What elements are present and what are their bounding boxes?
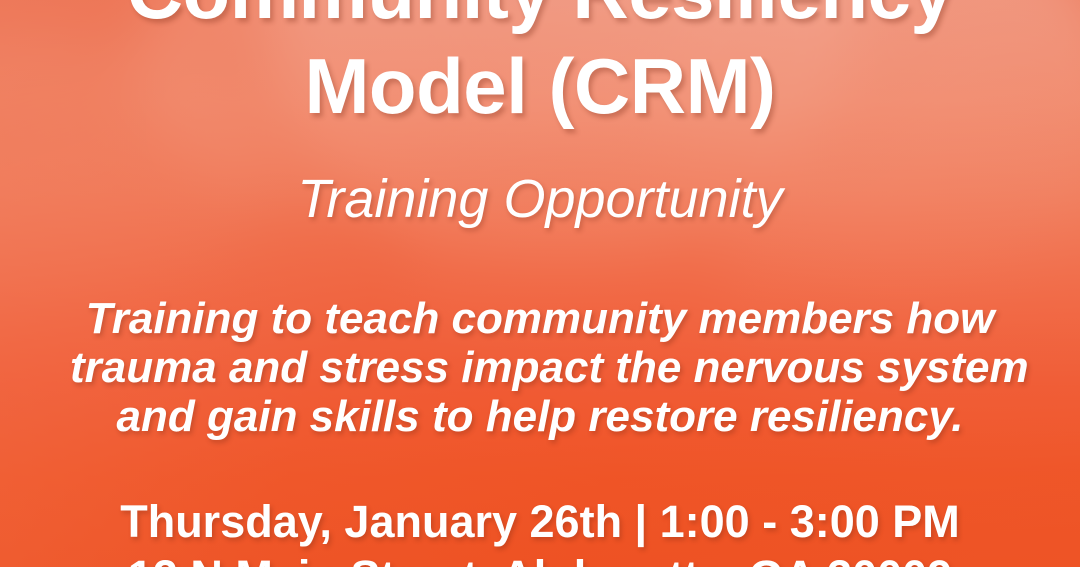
flyer-canvas: Community Resiliency Model (CRM) Trainin… [0, 0, 1080, 567]
page-title: Community Resiliency Model (CRM) [0, 0, 1080, 134]
event-address: 12 N Main Street, Alpharetta, GA 30009 [0, 549, 1080, 567]
description-line-1: Training to teach community members how [70, 294, 1010, 343]
description-line-3: and gain skills to help restore resilien… [70, 392, 1010, 441]
title-line-1: Community Resiliency [0, 0, 1080, 39]
description-line-2: trauma and stress impact the nervous sys… [70, 343, 1010, 392]
event-datetime: Thursday, January 26th | 1:00 - 3:00 PM [0, 494, 1080, 549]
flyer-content: Community Resiliency Model (CRM) Trainin… [0, 0, 1080, 567]
subtitle: Training Opportunity [0, 168, 1080, 230]
title-line-2: Model (CRM) [0, 39, 1080, 134]
description: Training to teach community members how … [70, 294, 1010, 441]
